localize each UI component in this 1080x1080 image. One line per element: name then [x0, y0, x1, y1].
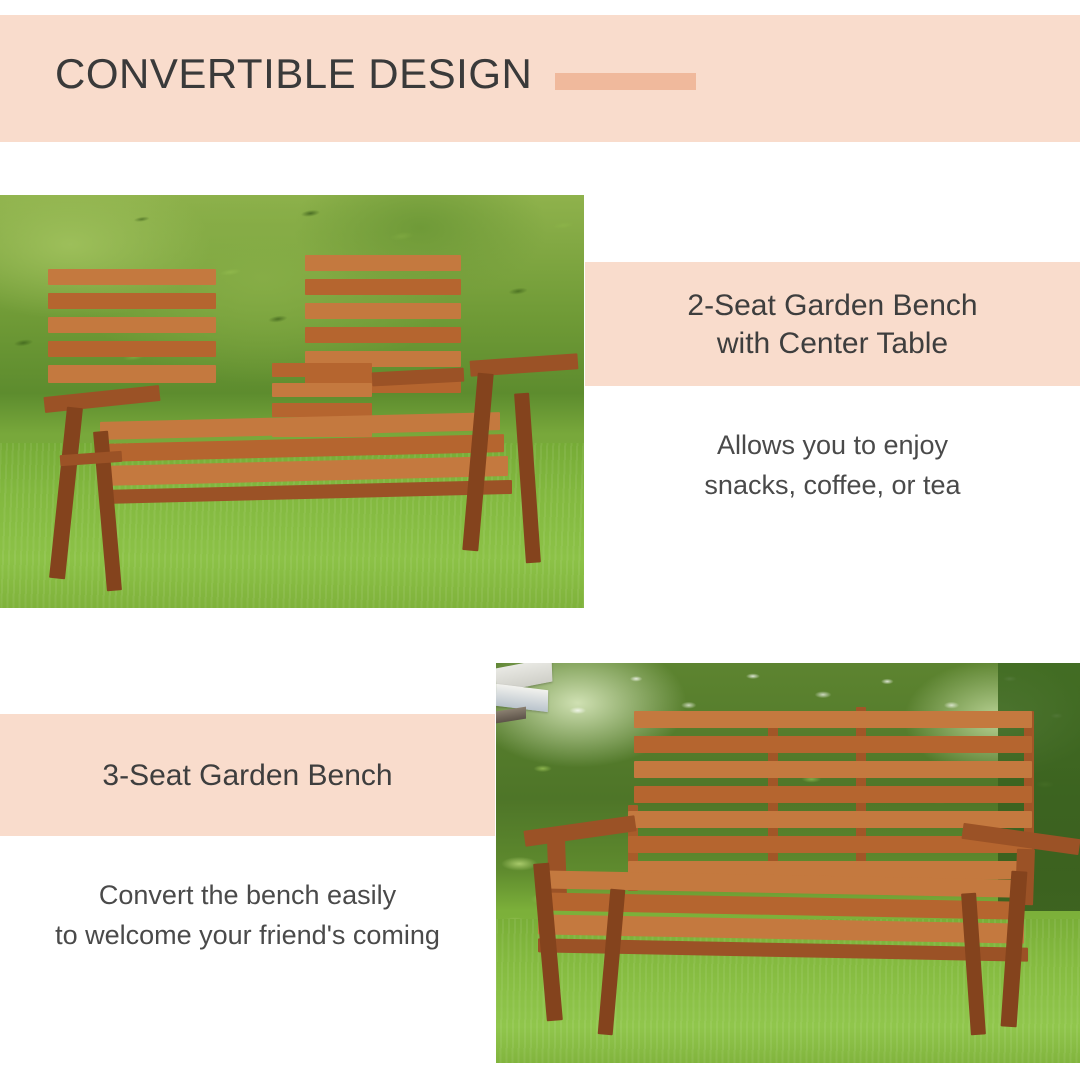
- photo-three-seat-bench: [496, 663, 1080, 1063]
- heading-two-seat-line1: 2-Seat Garden Bench: [585, 287, 1080, 325]
- backrest-slat: [634, 736, 1032, 753]
- subtext-two-seat-line2: snacks, coffee, or tea: [585, 465, 1080, 505]
- backrest-slat: [305, 303, 461, 319]
- subtext-three-seat: Convert the bench easily to welcome your…: [0, 875, 495, 955]
- center-divider-slat: [272, 363, 372, 377]
- backrest-slat: [48, 365, 216, 383]
- heading-two-seat-line2: with Center Table: [585, 325, 1080, 363]
- backrest-slat: [305, 327, 461, 343]
- backrest-slat: [634, 761, 1032, 778]
- center-divider-slat: [272, 383, 372, 397]
- backrest-slat: [48, 269, 216, 285]
- backrest-slat: [48, 341, 216, 357]
- subtext-three-seat-line1: Convert the bench easily: [0, 875, 495, 915]
- backrest-slat: [634, 786, 1032, 803]
- subtext-three-seat-line2: to welcome your friend's coming: [0, 915, 495, 955]
- photo-two-seat-bench: [0, 195, 584, 608]
- heading-three-seat-line1: 3-Seat Garden Bench: [0, 757, 495, 795]
- subtext-two-seat: Allows you to enjoy snacks, coffee, or t…: [585, 425, 1080, 505]
- backrest-slat: [48, 293, 216, 309]
- backrest-slat: [305, 279, 461, 295]
- infographic-page: CONVERTIBLE DESIGN: [0, 0, 1080, 1080]
- subtext-two-seat-line1: Allows you to enjoy: [585, 425, 1080, 465]
- backrest-slat: [305, 255, 461, 271]
- heading-two-seat: 2-Seat Garden Bench with Center Table: [585, 287, 1080, 363]
- backrest-slat: [634, 711, 1032, 728]
- page-title: CONVERTIBLE DESIGN: [55, 50, 532, 98]
- header-accent-bar: [555, 73, 696, 90]
- heading-three-seat: 3-Seat Garden Bench: [0, 757, 495, 795]
- backrest-slat: [48, 317, 216, 333]
